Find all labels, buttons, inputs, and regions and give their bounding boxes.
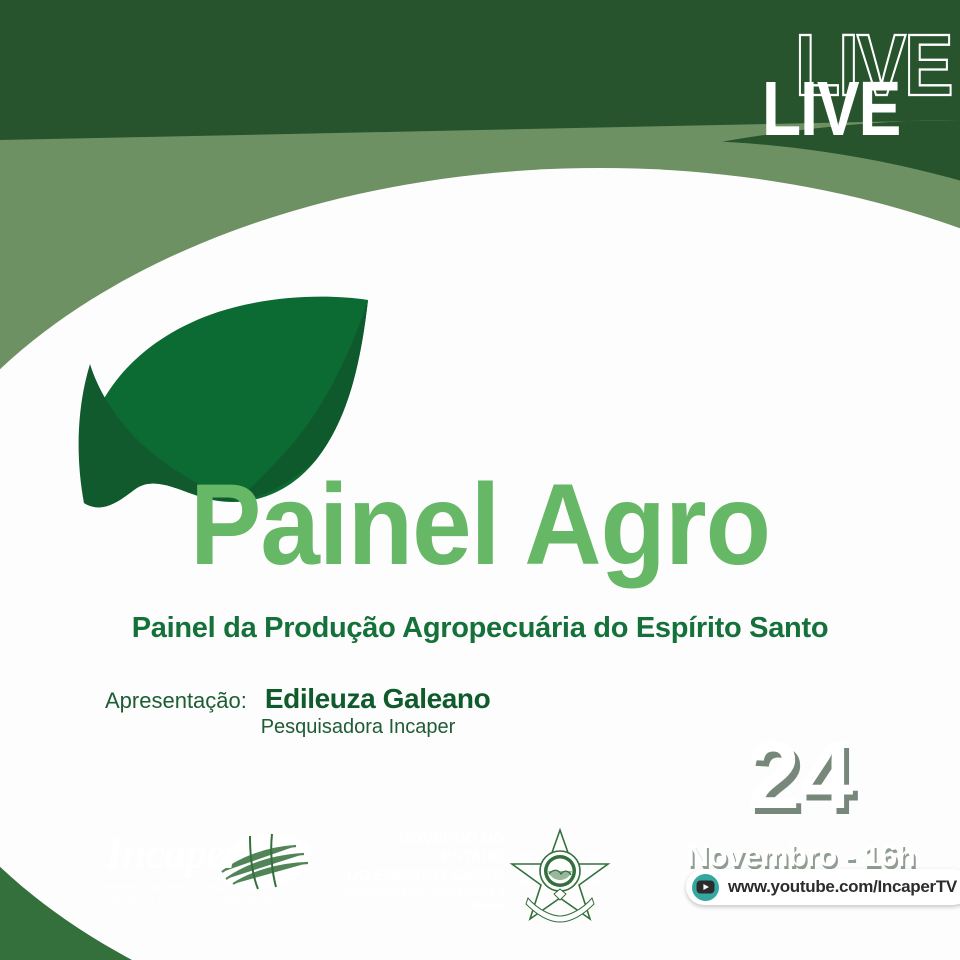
incaper-tagline-line2: Assistência Técnica e Extensão Rural (104, 894, 304, 907)
incaper-tagline-line1: Instituto Capixaba de Pesquisa, (104, 881, 304, 894)
poster-canvas: LIVE LIVE Painel Agro Painel da Produção… (0, 0, 960, 960)
government-subtitle-line2: Abastecimento, Aquicultura e Pesca (340, 885, 505, 915)
event-day: 24 (690, 728, 910, 824)
government-title-line1: GOVERNO DO ESTADO (340, 830, 505, 867)
youtube-link-badge[interactable]: www.youtube.com/IncaperTV (686, 869, 960, 905)
page-subtitle: Painel da Produção Agropecuária do Espír… (0, 612, 960, 645)
incaper-logo: Incaper Instituto Capixaba de Pesquisa, … (100, 832, 315, 912)
government-subtitle: Secretaria da Agricultura, Abastecimento… (340, 870, 505, 915)
live-badge-solid: LIVE (762, 70, 900, 147)
page-title: Painel Agro (34, 468, 927, 583)
presenter-label: Apresentação: (105, 688, 247, 714)
youtube-url-text: www.youtube.com/IncaperTV (728, 877, 957, 897)
incaper-tagline: Instituto Capixaba de Pesquisa, Assistên… (104, 881, 304, 907)
incaper-wordmark: Incaper (106, 832, 241, 876)
presenter-role: Pesquisadora Incaper (248, 716, 468, 739)
youtube-icon (692, 874, 719, 901)
presenter-row: Apresentação: Edileuza Galeano (105, 683, 490, 715)
youtube-glyph (696, 880, 715, 894)
espirito-santo-coat-of-arms-icon (508, 824, 612, 928)
government-logo: GOVERNO DO ESTADO DO ESPÍRITO SANTO Secr… (340, 828, 615, 928)
presenter-name: Edileuza Galeano (265, 683, 490, 715)
government-subtitle-line1: Secretaria da Agricultura, (340, 870, 505, 885)
